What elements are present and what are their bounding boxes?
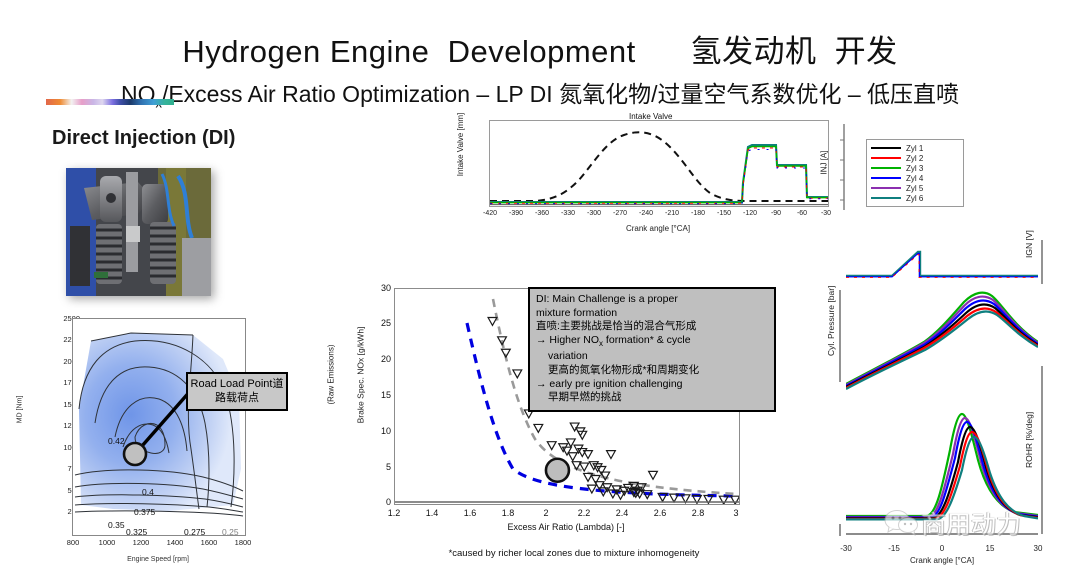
legend-swatch-zyl2 [871,157,901,159]
rohr-ylabel: ROHR [%/deg] [1024,412,1034,468]
right-stack-plot-area [846,238,1038,543]
road-load-point-marker [124,443,146,465]
cyl-pressure-ylabel: Cyl. Pressure [bar] [826,286,836,356]
nox-data-point [534,424,543,432]
nox-xtick: 1.6 [456,508,484,518]
right-stack-xtick: 15 [978,544,1002,553]
engine-map-contour-label: 0.4 [142,487,154,497]
intake-valve-xtick: -90 [763,210,789,217]
engine-map-contour-label: 0.35 [108,520,125,530]
legend-item: Zyl 4 [871,173,959,183]
nox-data-point [587,485,596,493]
nox-data-point [649,471,658,479]
nox-data-point [488,317,497,325]
intake-valve-xtick: -330 [555,210,581,217]
legend-item: Zyl 6 [871,193,959,203]
callout-line-4-post: formation* & cycle [603,334,691,346]
intake-valve-xtick: -360 [529,210,555,217]
callout-line-3: 直喷:主要挑战是恰当的混合气形成 [536,320,768,334]
callout-line-6: 更高的氮氧化物形成*和周期变化 [536,364,768,378]
legend-label: Zyl 2 [906,154,923,163]
nox-ylabel-line2: Brake Spec. NOx [g/kWh] [355,327,365,424]
nox-xtick: 1.4 [418,508,446,518]
cylinder-pressure-panel [846,293,1038,389]
page-title: Hydrogen Engine Development 氢发动机 开发 [0,26,1080,71]
legend-swatch-zyl6 [871,197,901,199]
nox-ylabel-line1: (Raw Emissions) [327,344,336,404]
right-stack-xtick: 30 [1026,544,1050,553]
intake-valve-xtick: -270 [607,210,633,217]
engine-map-contour-label: 0.375 [134,507,155,517]
intake-valve-xtick: -30 [813,210,839,217]
nox-xtick: 2.2 [570,508,598,518]
nox-footnote: *caused by richer local zones due to mix… [374,548,774,559]
legend-swatch-zyl3 [871,167,901,169]
nox-xtick: 1.8 [494,508,522,518]
nox-xtick: 2.4 [608,508,636,518]
engine-map-contour-label: 0.42 [108,436,125,446]
engine-map-ylabel: MD [Nm] [16,396,23,424]
engine-map-contour-label: 0.25 [222,527,239,537]
right-stack-left-axes [834,238,844,538]
nox-xtick: 2.6 [646,508,674,518]
nox-ytick: 5 [365,462,391,472]
engine-map-xtick: 1600 [194,538,224,547]
nox-ytick: 15 [365,390,391,400]
callout-line-2: mixture formation [536,307,768,321]
legend-swatch-zyl1 [871,147,901,149]
engine-map-xlabel: Engine Speed [rpm] [72,556,244,563]
injection-current-axis: INJ [A] [838,120,860,214]
intake-valve-xlabel: Crank angle [°CA] [489,224,827,233]
right-stack-right-axes [1038,238,1050,538]
nox-xtick: 2 [532,508,560,518]
ign-panel [846,252,1038,277]
engine-map-xtick: 1800 [228,538,258,547]
intake-valve-xtick: -240 [633,210,659,217]
legend-label: Zyl 4 [906,174,923,183]
engine-map-chart: MD [Nm] 2500 2250 2000 1750 1500 1250 10… [22,310,262,568]
intake-valve-plot-area [489,120,829,207]
nox-xtick: 2.8 [684,508,712,518]
nox-data-point [731,496,739,504]
nox-data-point [584,473,593,481]
subtitle-post: /Excess Air Ratio Optimization – LP DI 氮… [162,81,959,107]
intake-valve-xtick: -390 [503,210,529,217]
callout-line-7: → early pre ignition challenging [536,378,768,392]
callout-line-4: → Higher NOx formation* & cycle [536,334,768,351]
engine-map-contour-label: 0.325 [126,527,147,537]
legend-swatch-zyl4 [871,177,901,179]
legend-label: Zyl 5 [906,184,923,193]
intake-valve-ylabel: Intake Valve [mm] [456,113,465,176]
right-stack-xtick: -30 [834,544,858,553]
nox-ytick: 10 [365,426,391,436]
engine-map-xtick: 1400 [160,538,190,547]
road-load-point-callout: Road Load Point道路载荷点 [186,372,288,411]
nox-data-point [568,453,577,461]
nox-xlabel: Excess Air Ratio (Lambda) [-] [394,522,738,532]
intake-valve-xtick: -300 [581,210,607,217]
intake-valve-xtick: -150 [711,210,737,217]
page-subtitle: NOx/Excess Air Ratio Optimization – LP D… [0,75,1080,111]
callout-line-5: variation [536,350,768,364]
nox-data-point [513,370,522,378]
slide-header: Hydrogen Engine Development 氢发动机 开发 NOx/… [0,26,1080,111]
right-stack-xtick: 0 [930,544,954,553]
engine-map-xtick: 1200 [126,538,156,547]
nox-xtick: 1.2 [380,508,408,518]
ign-ylabel: IGN [V] [1024,230,1034,258]
section-title-direct-injection: Direct Injection (DI) [52,127,235,150]
intake-valve-xtick: -180 [685,210,711,217]
nox-ytick: 20 [365,354,391,364]
injector-current-traces [490,145,828,204]
accent-bar [46,99,174,105]
nox-ytick: 0 [365,497,391,507]
nox-data-point [584,451,593,459]
injection-current-ylabel: INJ [A] [820,150,829,174]
legend-label: Zyl 3 [906,164,923,173]
legend-swatch-zyl5 [871,187,901,189]
nox-ytick: 25 [365,318,391,328]
rohr-panel [846,414,1038,519]
nox-operating-point-marker [546,459,569,482]
engine-map-contour-label: 0.275 [184,527,205,537]
nox-data-point [501,349,510,357]
nox-data-point [607,451,616,459]
intake-valve-xtick: -60 [789,210,815,217]
nox-data-point [670,494,679,502]
nox-xtick: 3 [722,508,750,518]
right-stack-xlabel: Crank angle [°CA] [846,556,1038,565]
nox-ytick: 30 [365,283,391,293]
intake-valve-xtick: -210 [659,210,685,217]
intake-valve-xtick: -120 [737,210,763,217]
nox-data-point [570,423,579,431]
cylinder-legend: Zyl 1 Zyl 2 Zyl 3 Zyl 4 Zyl 5 Zyl 6 [866,139,964,207]
engine-map-xtick: 1000 [92,538,122,547]
right-stack-xtick: -15 [882,544,906,553]
callout-line-8: 早期早燃的挑战 [536,391,768,405]
legend-item: Zyl 3 [871,163,959,173]
legend-label: Zyl 6 [906,194,923,203]
legend-label: Zyl 1 [906,144,923,153]
intake-valve-xtick: -420 [477,210,503,217]
legend-item: Zyl 5 [871,183,959,193]
ignition-pressure-rohr-chart: IGN [V] Cyl. Pressure [bar] ROHR [%/deg]… [828,238,1076,568]
slide-root: Hydrogen Engine Development 氢发动机 开发 NOx/… [0,0,1080,570]
di-main-challenge-callout: DI: Main Challenge is a proper mixture f… [528,287,776,412]
callout-line-4-pre: → Higher NO [536,334,599,346]
engine-map-plot-area [72,318,246,536]
nox-data-point [547,442,556,450]
engine-map-xtick: 800 [58,538,88,547]
legend-item: Zyl 2 [871,153,959,163]
legend-item: Zyl 1 [871,143,959,153]
engine-cylinder-head-photo [66,168,211,296]
intake-valve-chart: Intake Valve [mm] Intake Valve Inj-Cur. … [447,116,837,238]
callout-line-1: DI: Main Challenge is a proper [536,293,768,307]
